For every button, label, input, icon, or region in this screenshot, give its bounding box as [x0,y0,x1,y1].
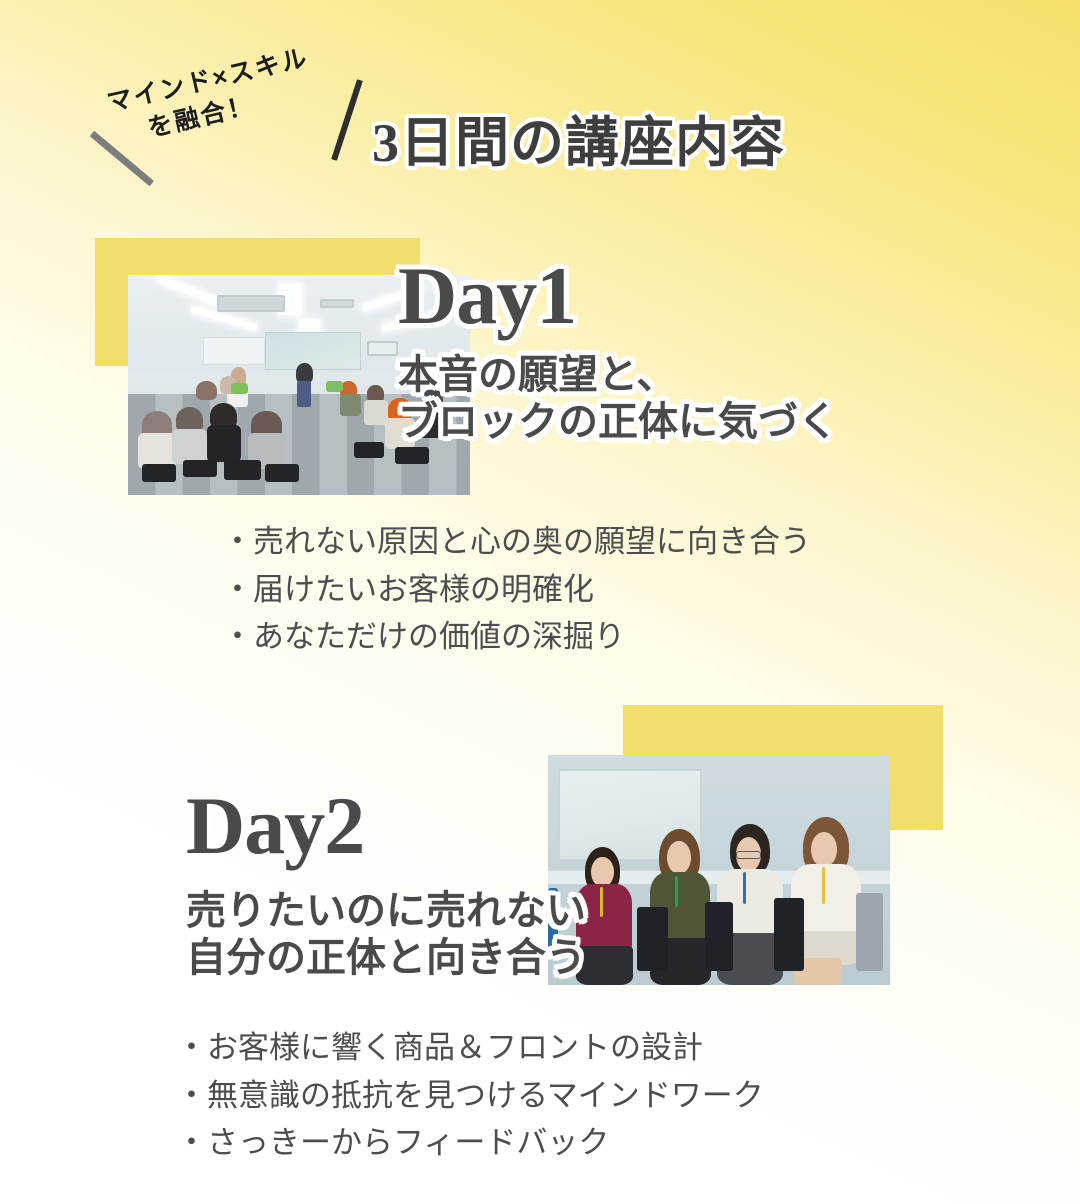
poster-canvas: マインド×スキル を融合！ 3日間の講座内容 [0,0,1080,1204]
list-item: ・無意識の抵抗を見つけるマインドワーク [176,1072,764,1120]
day1-bullet-list: ・売れない原因と心の奥の願望に向き合う ・届けたいお客様の明確化 ・あなただけの… [222,518,811,661]
day1-subtitle-line-2: ブロックの正体に気づく [398,399,838,446]
forwardslash-decoration-icon [331,79,363,161]
day1-number: Day1 [398,256,576,336]
header-badge: マインド×スキル を融合！ [104,42,319,154]
day1-heading: Day1 [398,256,576,336]
list-item: ・さっきーからフィードバック [176,1119,764,1167]
day2-subtitle-line-2: 自分の正体と向き合う [186,935,586,982]
list-item: ・お客様に響く商品＆フロントの設計 [176,1024,764,1072]
day2-photo [548,755,890,985]
day1-subtitle-line-1: 本音の願望と、 [398,352,838,399]
day2-number: Day2 [186,786,364,866]
day1-subtitle: 本音の願望と、 ブロックの正体に気づく [398,352,838,446]
day2-subtitle: 売りたいのに売れない 自分の正体と向き合う [186,888,586,982]
list-item: ・売れない原因と心の奥の願望に向き合う [222,518,811,566]
day2-heading: Day2 [186,786,364,866]
day2-bullet-list: ・お客様に響く商品＆フロントの設計 ・無意識の抵抗を見つけるマインドワーク ・さ… [176,1024,764,1167]
day2-subtitle-line-1: 売りたいのに売れない [186,888,586,935]
page-title: 3日間の講座内容 [372,98,785,177]
list-item: ・届けたいお客様の明確化 [222,566,811,614]
list-item: ・あなただけの価値の深掘り [222,613,811,661]
